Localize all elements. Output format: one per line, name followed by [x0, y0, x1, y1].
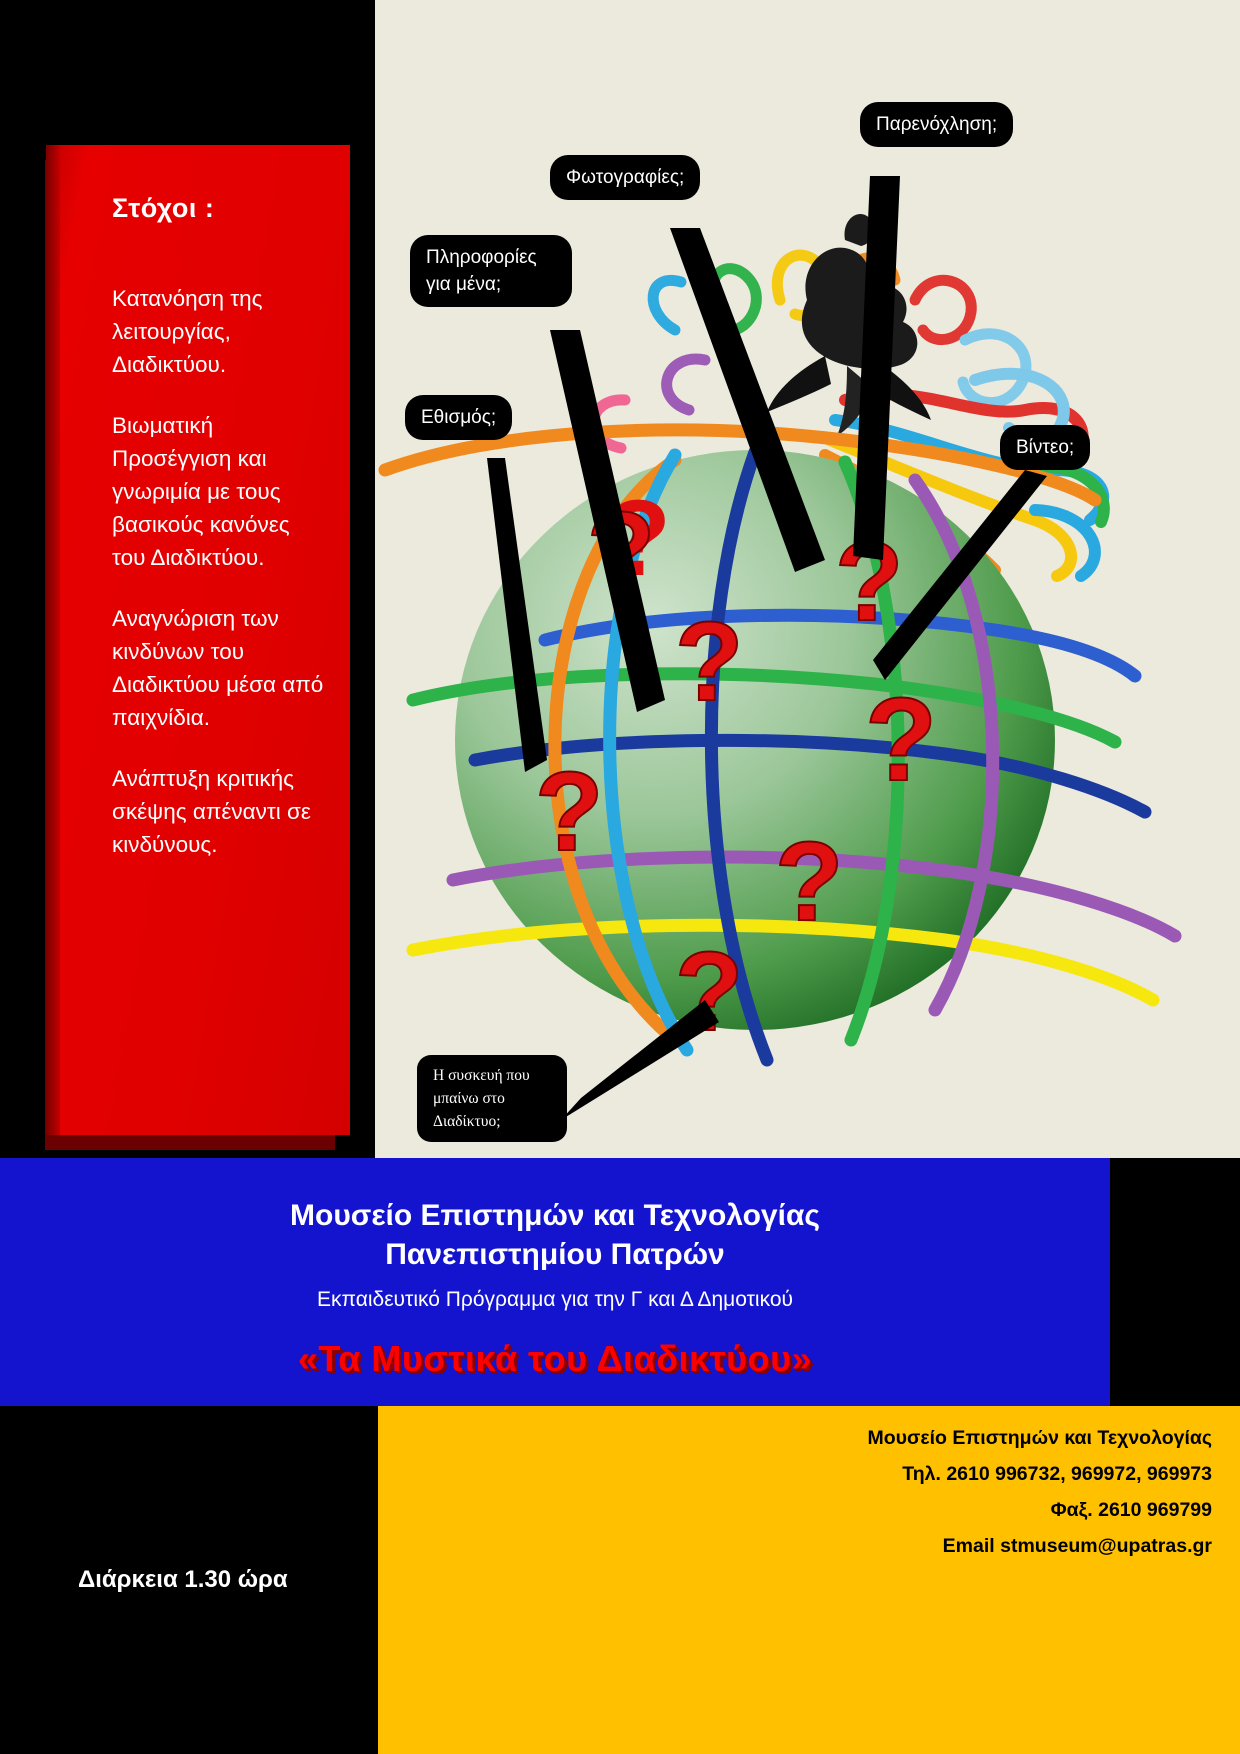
contact-box: Μουσείο Επιστημών και Τεχνολογίας Τηλ. 2…	[378, 1406, 1240, 1754]
bubble-device: Η συσκευή που μπαίνω στο Διαδίκτυο;	[417, 1055, 567, 1142]
footer-program: Εκπαιδευτικό Πρόγραμμα για την Γ και Δ Δ…	[0, 1274, 1110, 1312]
duration-label: Διάρκεια 1.30 ώρα	[78, 1566, 288, 1594]
poster-root: ? ? ? ? ? ? ? ? Παρενόχληση;	[0, 0, 1240, 1754]
objective-item-2: Βιωματική Προσέγγιση και γνωριμία με του…	[112, 409, 326, 574]
contact-fax: Φαξ. 2610 969799	[378, 1492, 1240, 1528]
objective-item-4: Ανάπτυξη κριτικής σκέψης απέναντι σε κιν…	[112, 762, 326, 861]
duration-block: Διάρκεια 1.30 ώρα	[0, 1406, 378, 1754]
objective-item-1: Κατανόηση της λειτουργίας, Διαδικτύου.	[112, 282, 326, 381]
footer-org-line2: Πανεπιστημίου Πατρών	[0, 1235, 1110, 1274]
footer-org-line1: Μουσείο Επιστημών και Τεχνολογίας	[0, 1158, 1110, 1235]
svg-text:?: ?	[535, 749, 603, 874]
footer-title: «Τα Μυστικά του Διαδικτύου»	[0, 1312, 1110, 1380]
objectives-title: Στόχοι :	[112, 193, 326, 224]
bubble-harassment: Παρενόχληση;	[860, 102, 1013, 147]
svg-text:?: ?	[865, 674, 937, 806]
bubble-addiction: Εθισμός;	[405, 395, 512, 440]
contact-name: Μουσείο Επιστημών και Τεχνολογίας	[378, 1420, 1240, 1456]
objective-item-3: Αναγνώριση των κινδύνων του Διαδικτύου μ…	[112, 602, 326, 734]
contact-phone: Τηλ. 2610 996732, 969972, 969973	[378, 1456, 1240, 1492]
globe-illustration: ? ? ? ? ? ? ? ?	[375, 0, 1240, 1158]
objectives-card: Στόχοι : Κατανόηση της λειτουργίας, Διαδ…	[60, 145, 350, 1135]
artwork-panel: ? ? ? ? ? ? ? ? Παρενόχληση;	[375, 0, 1240, 1158]
bubble-info-about-me: Πληροφορίες για μένα;	[410, 235, 572, 307]
bubble-video: Βίντεο;	[1000, 425, 1090, 470]
footer-blue-band: Μουσείο Επιστημών και Τεχνολογίας Πανεπι…	[0, 1158, 1110, 1406]
svg-text:?: ?	[775, 819, 843, 944]
bubble-photos: Φωτογραφίες;	[550, 155, 700, 200]
contact-email: Email stmuseum@upatras.gr	[378, 1528, 1240, 1564]
svg-text:?: ?	[675, 599, 743, 724]
